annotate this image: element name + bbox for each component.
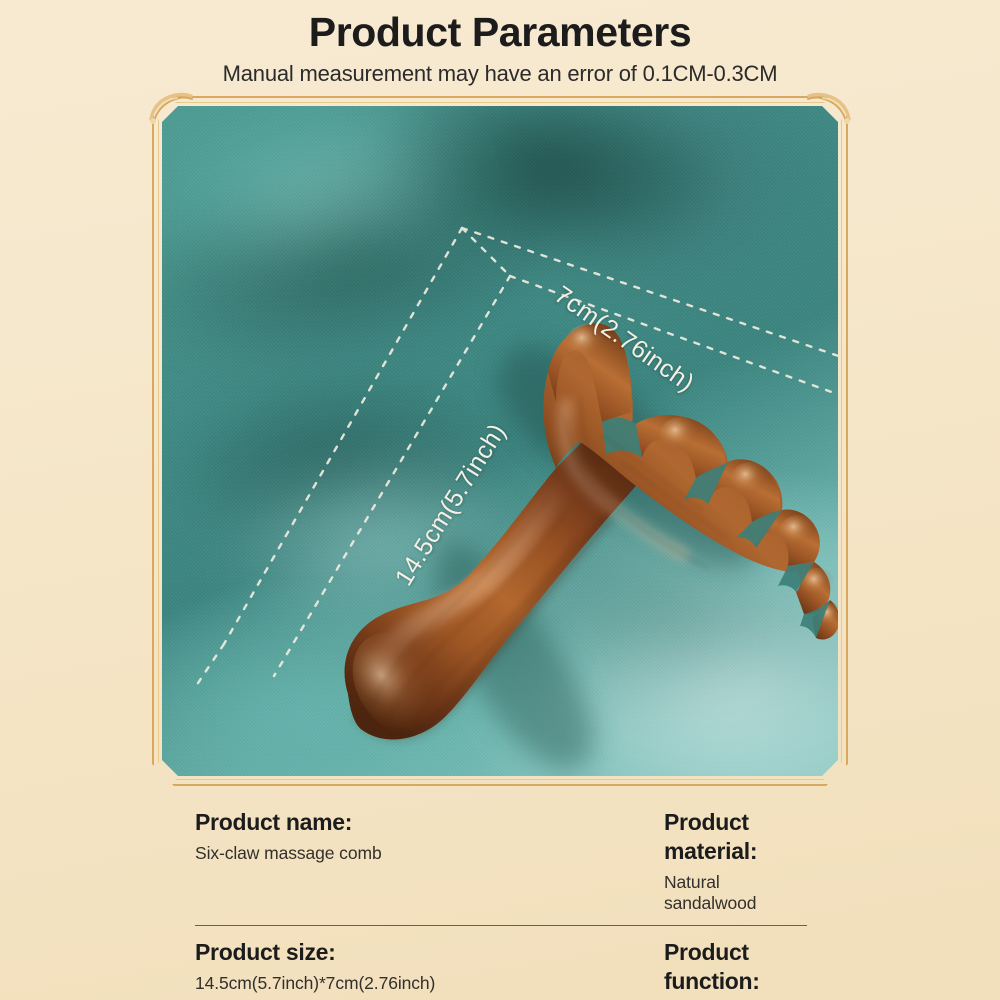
- comb-claw-tip-2: [659, 417, 701, 455]
- product-photo-frame: 7cm(2.76inch) 14.5cm(5.7inch): [152, 96, 848, 786]
- spec-divider: [195, 925, 807, 927]
- spec-label: Product material:: [664, 808, 797, 866]
- spec-row: Product size: 14.5cm(5.7inch)*7cm(2.76in…: [195, 938, 807, 1000]
- corner-ornament-icon: [147, 89, 193, 129]
- width-tick-left: [462, 228, 510, 276]
- spec-label: Product function:: [664, 938, 797, 996]
- page-subtitle: Manual measurement may have an error of …: [0, 56, 1000, 87]
- spec-row: Product name: Six-claw massage comb Prod…: [195, 808, 807, 915]
- spec-table: Product name: Six-claw massage comb Prod…: [195, 808, 807, 1000]
- spec-cell-product-name: Product name: Six-claw massage comb: [195, 808, 501, 915]
- spec-cell-product-material: Product material: Natural sandalwood: [501, 808, 807, 915]
- comb-claw-tip-3: [730, 462, 770, 498]
- massage-comb: [333, 323, 838, 754]
- spec-value: Six-claw massage comb: [195, 837, 491, 865]
- header: Product Parameters Manual measurement ma…: [0, 0, 1000, 87]
- product-photo: 7cm(2.76inch) 14.5cm(5.7inch): [162, 106, 838, 776]
- corner-ornament-icon: [807, 89, 853, 129]
- spec-cell-product-function: Product function: acupoint massage/face …: [501, 938, 807, 1000]
- height-tick-bottom: [196, 644, 224, 686]
- spec-label: Product size:: [195, 938, 491, 967]
- spec-label: Product name:: [195, 808, 491, 837]
- spec-value: 14.5cm(5.7inch)*7cm(2.76inch): [195, 967, 491, 995]
- spec-cell-product-size: Product size: 14.5cm(5.7inch)*7cm(2.76in…: [195, 938, 501, 1000]
- spec-value: acupoint massage/face lifting /head mass…: [664, 996, 797, 1000]
- height-guide-line: [224, 228, 462, 644]
- page-title: Product Parameters: [0, 0, 1000, 56]
- comb-claw-tip-4: [779, 515, 817, 549]
- spec-value: Natural sandalwood: [664, 866, 797, 915]
